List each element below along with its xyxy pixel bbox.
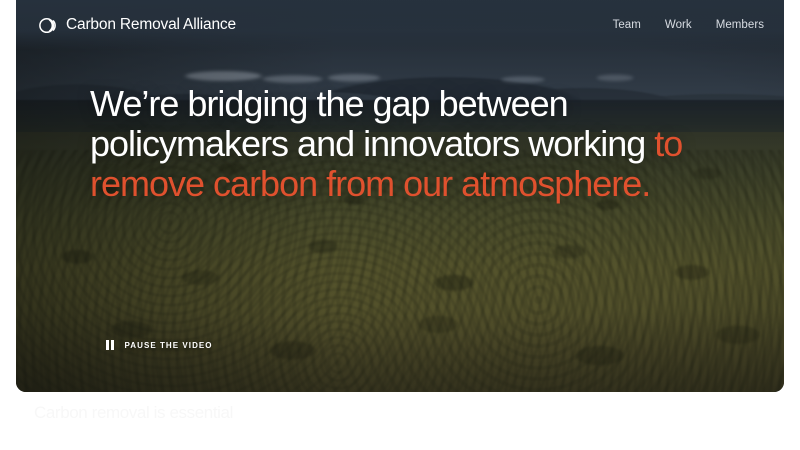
brand-name: Carbon Removal Alliance <box>66 16 236 34</box>
top-navigation-bar: Carbon Removal Alliance Team Work Member… <box>16 0 784 50</box>
nav-link-work[interactable]: Work <box>665 19 692 31</box>
below-hero-section: Carbon removal is essential <box>0 392 800 450</box>
page-root: Carbon Removal Alliance Team Work Member… <box>0 0 800 450</box>
nav-link-team[interactable]: Team <box>613 19 641 31</box>
nav-links: Team Work Members <box>613 19 764 31</box>
hero-section: Carbon Removal Alliance Team Work Member… <box>16 0 784 392</box>
pause-icon <box>106 340 114 350</box>
hero-headline-white: We’re bridging the gap between policymak… <box>90 83 654 164</box>
hero-headline: We’re bridging the gap between policymak… <box>90 84 730 204</box>
below-hero-fading-text: Carbon removal is essential <box>34 402 233 424</box>
pause-video-button[interactable]: PAUSE THE VIDEO <box>106 340 213 350</box>
carbon-removal-alliance-circle-logo-icon <box>38 16 57 35</box>
brand-logo-link[interactable]: Carbon Removal Alliance <box>38 16 236 35</box>
pause-video-label: PAUSE THE VIDEO <box>125 341 213 350</box>
nav-link-members[interactable]: Members <box>716 19 764 31</box>
